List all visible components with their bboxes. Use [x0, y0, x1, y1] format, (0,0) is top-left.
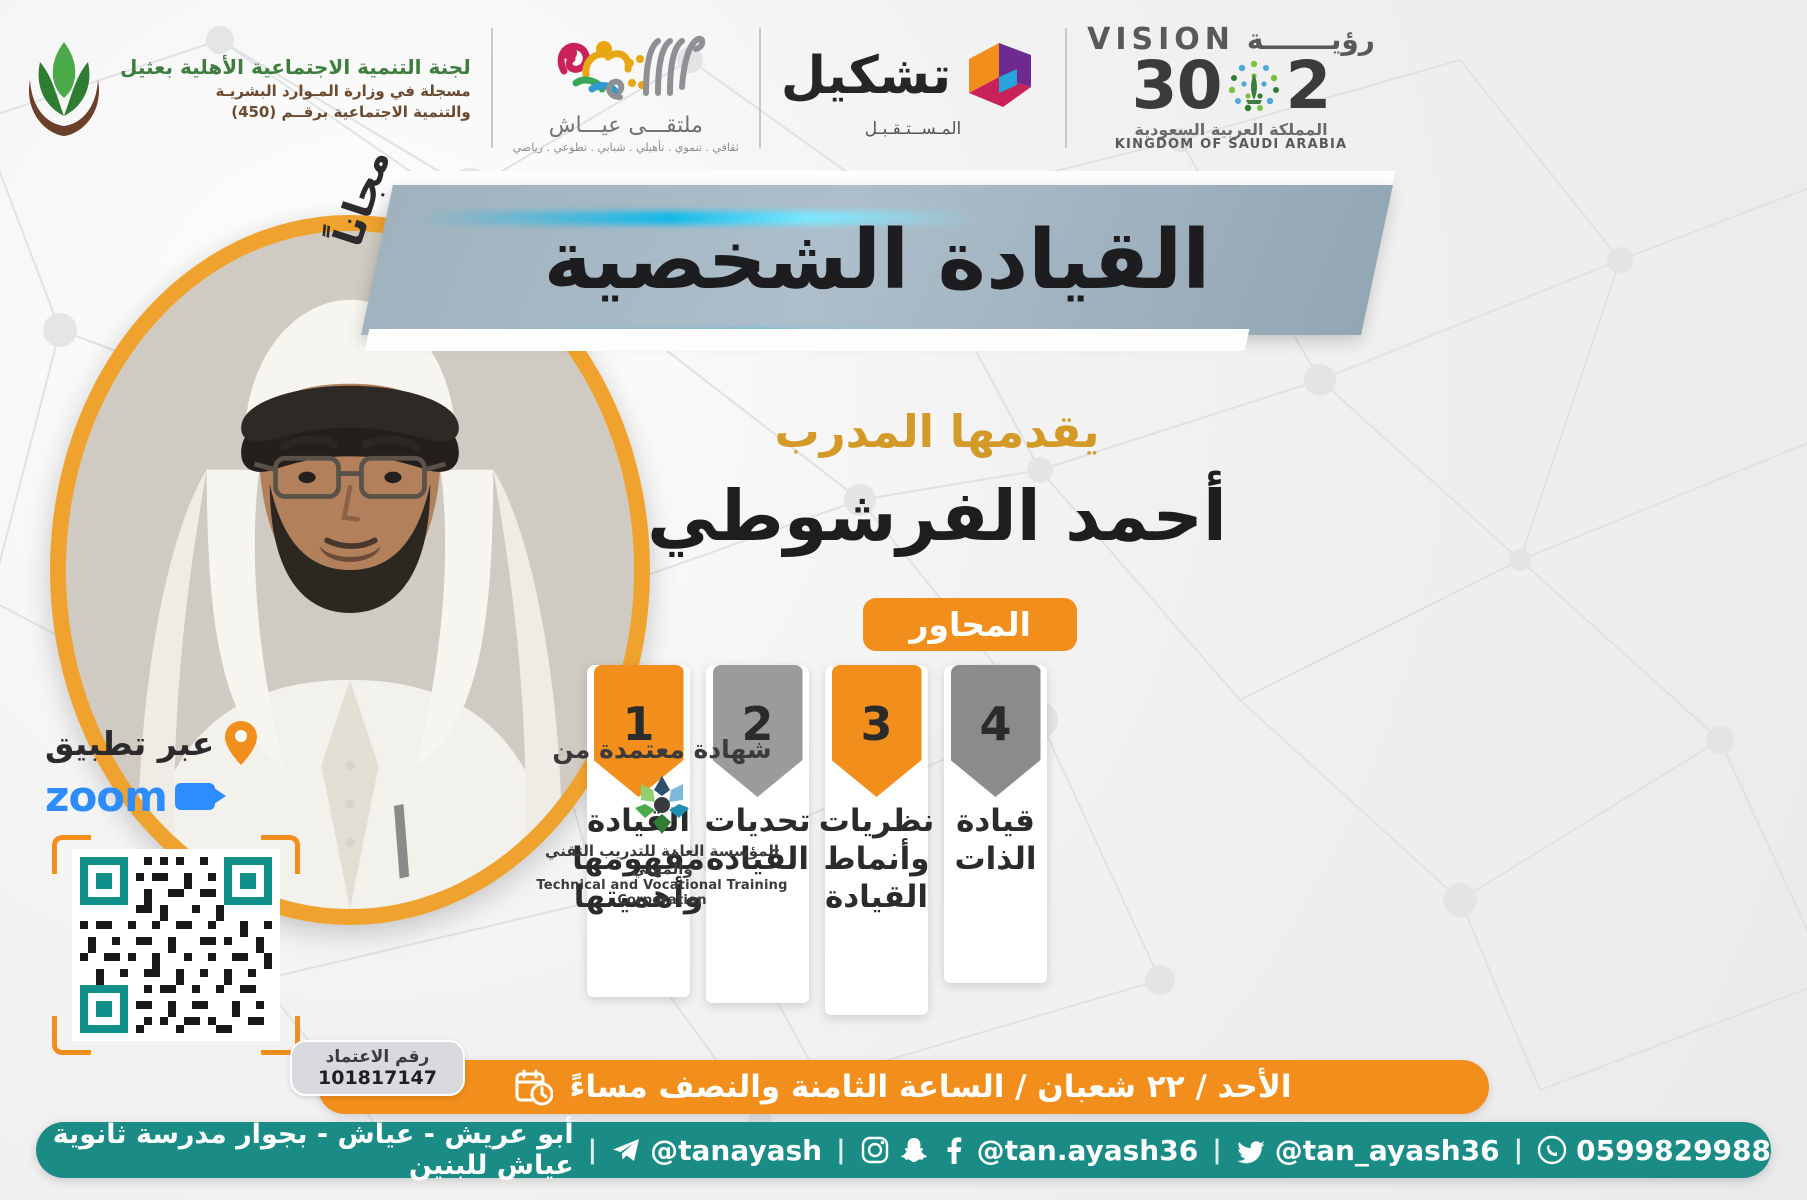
snapchat-icon [899, 1135, 929, 1165]
video-camera-icon [175, 783, 215, 810]
logo-vision-2030: رؤيـــــــة VISION 2 [1067, 18, 1395, 158]
palm-emblem-icon [1224, 56, 1284, 116]
page-title: القيادة الشخصية [377, 185, 1377, 335]
ayash-name: ملتقـــى عيـــاش [549, 113, 703, 138]
footer-sep-1: | [1514, 1135, 1524, 1165]
cube-logo-icon [959, 37, 1045, 115]
certificate-org-ar: المؤسسة العامة للتدريب التقني والمهني [527, 842, 797, 878]
accreditation-badge: رقم الاعتماد 101817147 [290, 1040, 465, 1096]
tashkeel-word: تشكيل [781, 50, 951, 102]
green-plant-mark-icon [20, 36, 108, 140]
vision-year-right: 30 [1132, 53, 1222, 119]
footer-contact-bar: 0599829988 | @tan_ayash36 | @tan.ayash36… [36, 1122, 1771, 1178]
accreditation-number: 101817147 [318, 1067, 437, 1089]
logo-ayash: ملتقـــى عيـــاش ثقافي . تنموي . تأهيلي … [493, 18, 759, 158]
qr-code-frame[interactable] [52, 835, 300, 1055]
location-pin-icon [224, 720, 258, 766]
axis-number-3: 3 [832, 665, 922, 797]
calendar-clock-icon [515, 1068, 553, 1106]
twitter-icon [1236, 1135, 1266, 1165]
tvtc-logo-icon [623, 772, 701, 838]
trainer-name: أحمد الفرشوطي [587, 475, 1287, 557]
footer-sep-4: | [588, 1135, 598, 1165]
twitter-contact[interactable]: @tan_ayash36 [1236, 1134, 1500, 1167]
tashkeel-sub: المـســتـقـبـل [865, 119, 962, 139]
footer-sep-3: | [836, 1135, 846, 1165]
certificate-org-en: Technical and Vocational Training Corpor… [527, 878, 797, 908]
whatsapp-contact[interactable]: 0599829988 [1537, 1134, 1771, 1167]
header-logo-strip: لجنة التنمية الاجتماعية الأهلية بعثيل مس… [0, 0, 1807, 176]
qr-code[interactable] [72, 849, 280, 1041]
presented-by-label: يقدمها المدرب [627, 405, 1247, 458]
zoom-via-label: عبر تطبيق [45, 724, 214, 763]
axis-label-4: قيادة الذات [944, 797, 1047, 895]
twitter-handle: @tan_ayash36 [1275, 1134, 1500, 1167]
committee-line-1: لجنة التنمية الاجتماعية الأهلية بعثيل [120, 54, 471, 81]
telegram-icon [611, 1135, 641, 1165]
zoom-brand-label: zoom [45, 772, 167, 821]
committee-line-2: مسجلة في وزارة المـوارد البشريـة [215, 81, 470, 101]
social-contact[interactable]: @tan.ayash36 [860, 1134, 1199, 1167]
poster-root: لجنة التنمية الاجتماعية الأهلية بعثيل مس… [0, 0, 1807, 1200]
accreditation-label: رقم الاعتماد [318, 1047, 437, 1067]
footer-address: أبو عريش - عياش - بجوار مدرسة ثانوية عيا… [36, 1119, 574, 1181]
facebook-icon [938, 1135, 968, 1165]
date-bar: الأحد / ٢٢ شعبان / الساعة الثامنة والنصف… [318, 1060, 1489, 1114]
ayash-tags: ثقافي . تنموي . تأهيلي . شبابي . تطوعي .… [513, 141, 739, 154]
telegram-handle: @tanayash [650, 1134, 822, 1167]
logo-tashkeel: تشكيل المـســتـقـبـل [761, 18, 1065, 158]
vision-kingdom-ar: المملكة العربية السعودية [1134, 122, 1327, 138]
committee-line-3: والتنمية الاجتماعية برقــم (450) [231, 102, 471, 122]
axis-item-4: 4 قيادة الذات [944, 665, 1047, 983]
vision-year-left: 2 [1286, 53, 1331, 119]
certificate-block: شهادة معتمدة من المؤسسة العامة للتدريب ا… [527, 735, 797, 908]
axes-badge: المحاور [863, 598, 1077, 651]
ayash-calligraphy-icon [546, 23, 706, 109]
footer-sep-2: | [1212, 1135, 1222, 1165]
axis-number-4: 4 [951, 665, 1041, 797]
telegram-contact[interactable]: @tanayash [611, 1134, 822, 1167]
vision-kingdom-en: KINGDOM OF SAUDI ARABIA [1115, 138, 1348, 151]
social-handle: @tan.ayash36 [977, 1134, 1199, 1167]
date-bar-text: الأحد / ٢٢ شعبان / الساعة الثامنة والنصف… [569, 1069, 1291, 1105]
title-banner: القيادة الشخصية [377, 185, 1377, 335]
instagram-icon [860, 1135, 890, 1165]
logo-committee: لجنة التنمية الاجتماعية الأهلية بعثيل مس… [0, 18, 491, 158]
phone-number: 0599829988 [1576, 1134, 1771, 1167]
whatsapp-icon [1537, 1135, 1567, 1165]
certificate-title: شهادة معتمدة من [527, 735, 797, 764]
zoom-block: عبر تطبيق zoom [45, 720, 300, 1055]
axis-label-3: نظريات وأنماط القيادة [815, 797, 939, 932]
axis-item-3: 3 نظريات وأنماط القيادة [825, 665, 928, 1015]
